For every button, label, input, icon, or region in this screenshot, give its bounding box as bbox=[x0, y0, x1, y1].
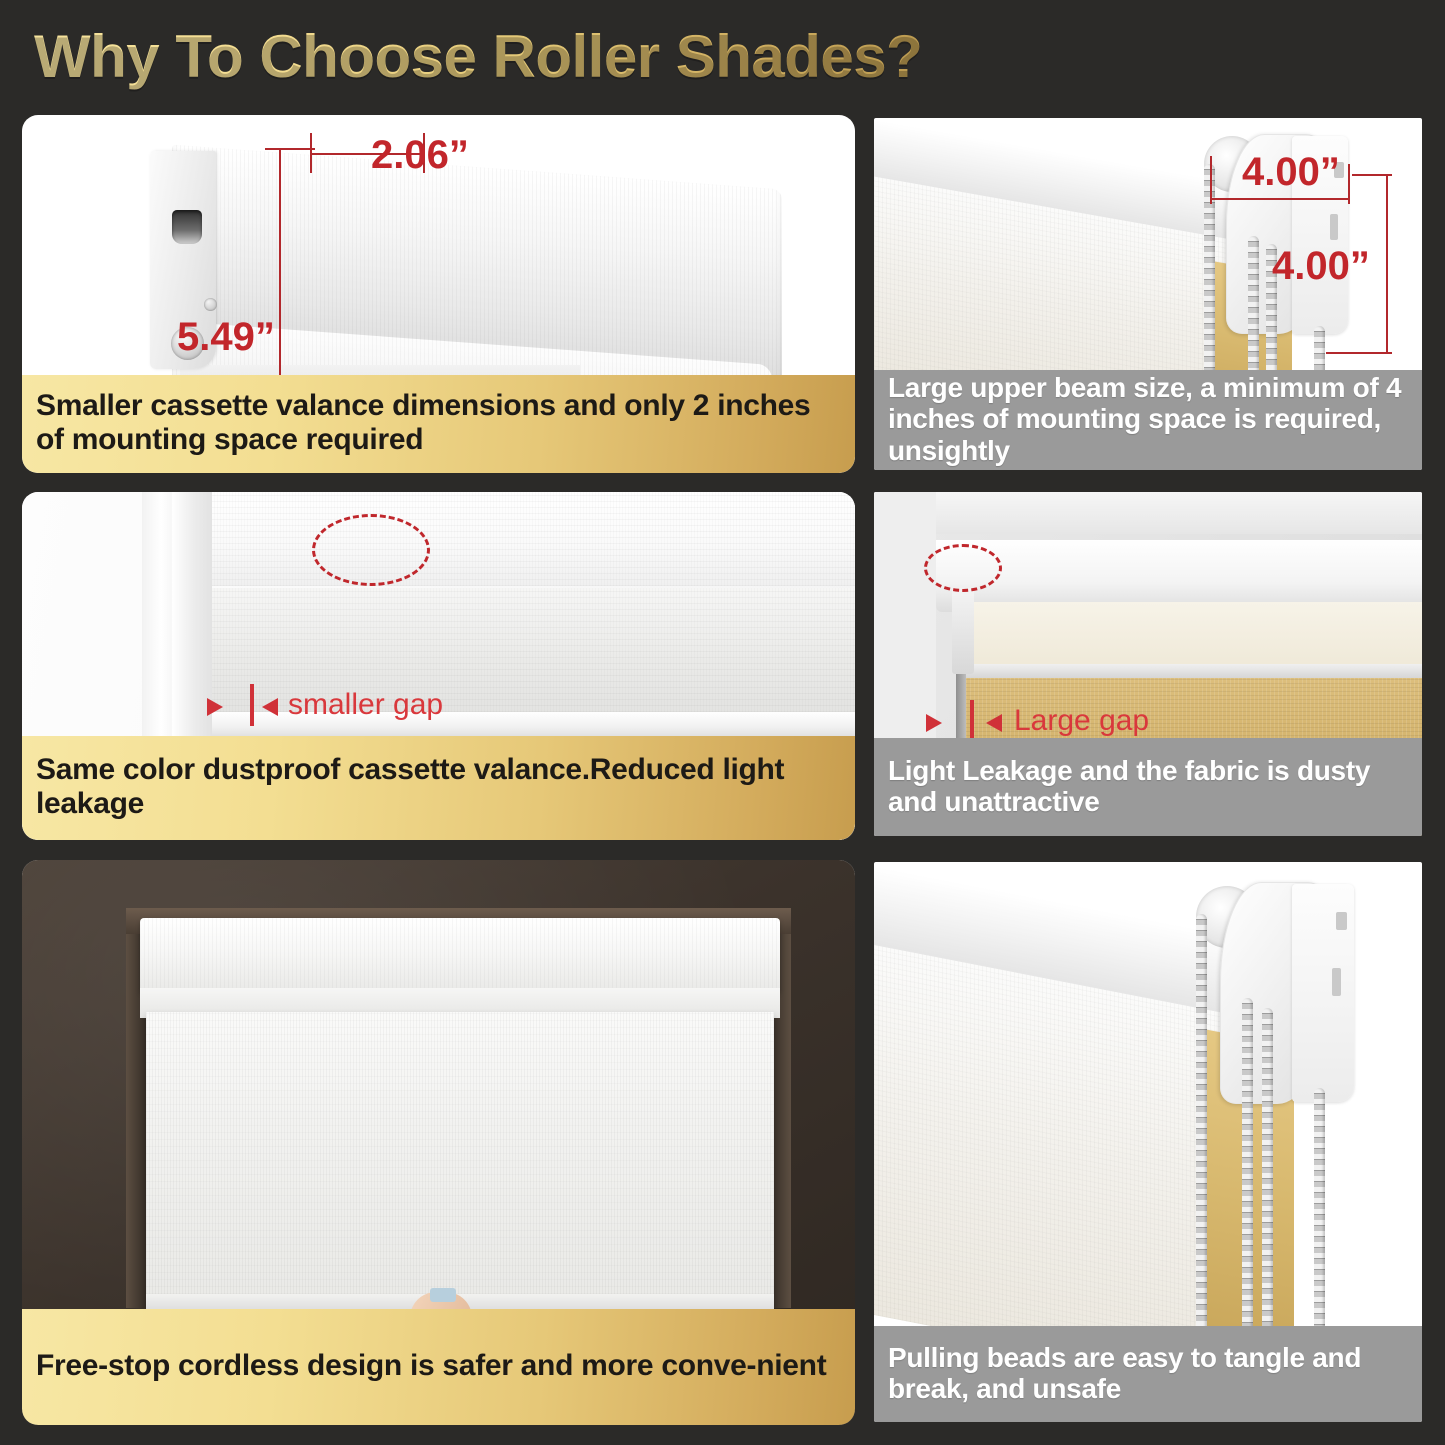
cassette-valance bbox=[140, 918, 780, 992]
panel-1-caption-bar: Smaller cassette valance dimensions and … bbox=[22, 375, 855, 473]
beam-width-line bbox=[1210, 198, 1350, 200]
panel-cassette-dimensions: 2.06” 5.49” Smaller cassette valance dim… bbox=[22, 115, 855, 473]
beam-height-tick-top bbox=[1352, 174, 1392, 176]
panel-6-caption-bar: Pulling beads are easy to tangle and bre… bbox=[874, 1326, 1422, 1422]
beam-height-label: 4.00” bbox=[1272, 244, 1370, 289]
side-bracket bbox=[952, 588, 974, 674]
height-tick-top bbox=[265, 148, 315, 150]
panel-6-caption-text: Pulling beads are easy to tangle and bre… bbox=[874, 1336, 1422, 1413]
width-tick-left bbox=[310, 133, 312, 173]
panel-3-caption-bar: Same color dustproof cassette valance.Re… bbox=[22, 736, 855, 840]
highlight-ellipse-icon bbox=[924, 544, 1002, 592]
valance-slot bbox=[172, 210, 202, 244]
panel-pulling-beads: Pulling beads are easy to tangle and bre… bbox=[874, 862, 1422, 1422]
gap-marker bbox=[970, 700, 974, 742]
bracket-slot-2 bbox=[1330, 214, 1338, 240]
panel-3-caption-text: Same color dustproof cassette valance.Re… bbox=[22, 747, 855, 828]
roller-shade-fabric bbox=[146, 1012, 774, 1308]
large-gap-label: Large gap bbox=[1014, 704, 1149, 738]
infographic-root: Why To Choose Roller Shades? 2.06” 5.49”… bbox=[0, 0, 1445, 1445]
valance-screw-icon bbox=[204, 298, 217, 311]
valance-band bbox=[966, 602, 1422, 668]
height-dimension-label: 5.49” bbox=[177, 315, 275, 360]
panel-2-caption-bar: Large upper beam size, a minimum of 4 in… bbox=[874, 370, 1422, 470]
panel-large-beam: 4.00” 4.00” Large upper beam size, a min… bbox=[874, 118, 1422, 470]
beam-width-tick-right bbox=[1348, 164, 1350, 204]
gap-arrow-right-icon bbox=[986, 714, 1002, 732]
bead-chain-2 bbox=[1242, 998, 1253, 1350]
bead-chain-1 bbox=[1196, 914, 1207, 1350]
bead-chain-4 bbox=[1314, 1088, 1325, 1350]
smaller-gap-label: smaller gap bbox=[288, 688, 443, 722]
gap-arrow-left-icon bbox=[926, 714, 942, 732]
beam-height-line bbox=[1386, 174, 1388, 354]
panel-4-caption-text: Light Leakage and the fabric is dusty an… bbox=[874, 749, 1422, 826]
panel-5-caption-text: Free-stop cordless design is safer and m… bbox=[22, 1343, 855, 1391]
beam-height-tick-bottom bbox=[1326, 352, 1392, 354]
beam-width-label: 4.00” bbox=[1242, 150, 1340, 195]
gap-arrow-left-icon bbox=[207, 698, 223, 716]
panel-smaller-gap: smaller gap Same color dustproof cassett… bbox=[22, 492, 855, 840]
panel-2-caption-text: Large upper beam size, a minimum of 4 in… bbox=[874, 366, 1422, 470]
shade-pull-tab bbox=[430, 1288, 456, 1302]
bracket-slot-1 bbox=[1336, 912, 1347, 930]
valance-rail bbox=[962, 664, 1422, 678]
beam-width-tick-left bbox=[1210, 156, 1212, 204]
panel-4-caption-bar: Light Leakage and the fabric is dusty an… bbox=[874, 738, 1422, 836]
gap-arrow-right-icon bbox=[262, 698, 278, 716]
panel-large-gap: Large gap Light Leakage and the fabric i… bbox=[874, 492, 1422, 836]
window-head-casing bbox=[172, 492, 855, 586]
panel-1-caption-text: Smaller cassette valance dimensions and … bbox=[22, 383, 855, 464]
panel-5-caption-bar: Free-stop cordless design is safer and m… bbox=[22, 1309, 855, 1425]
page-title: Why To Choose Roller Shades? bbox=[34, 22, 922, 91]
ceiling-strip bbox=[874, 492, 1422, 534]
gap-marker bbox=[250, 684, 254, 726]
panel-cordless-design: Free-stop cordless design is safer and m… bbox=[22, 860, 855, 1425]
width-dimension-label: 2.06” bbox=[371, 133, 469, 178]
bracket-slot-2 bbox=[1332, 968, 1341, 996]
bead-chain-3 bbox=[1262, 1008, 1273, 1350]
highlight-ellipse-icon bbox=[312, 514, 430, 586]
